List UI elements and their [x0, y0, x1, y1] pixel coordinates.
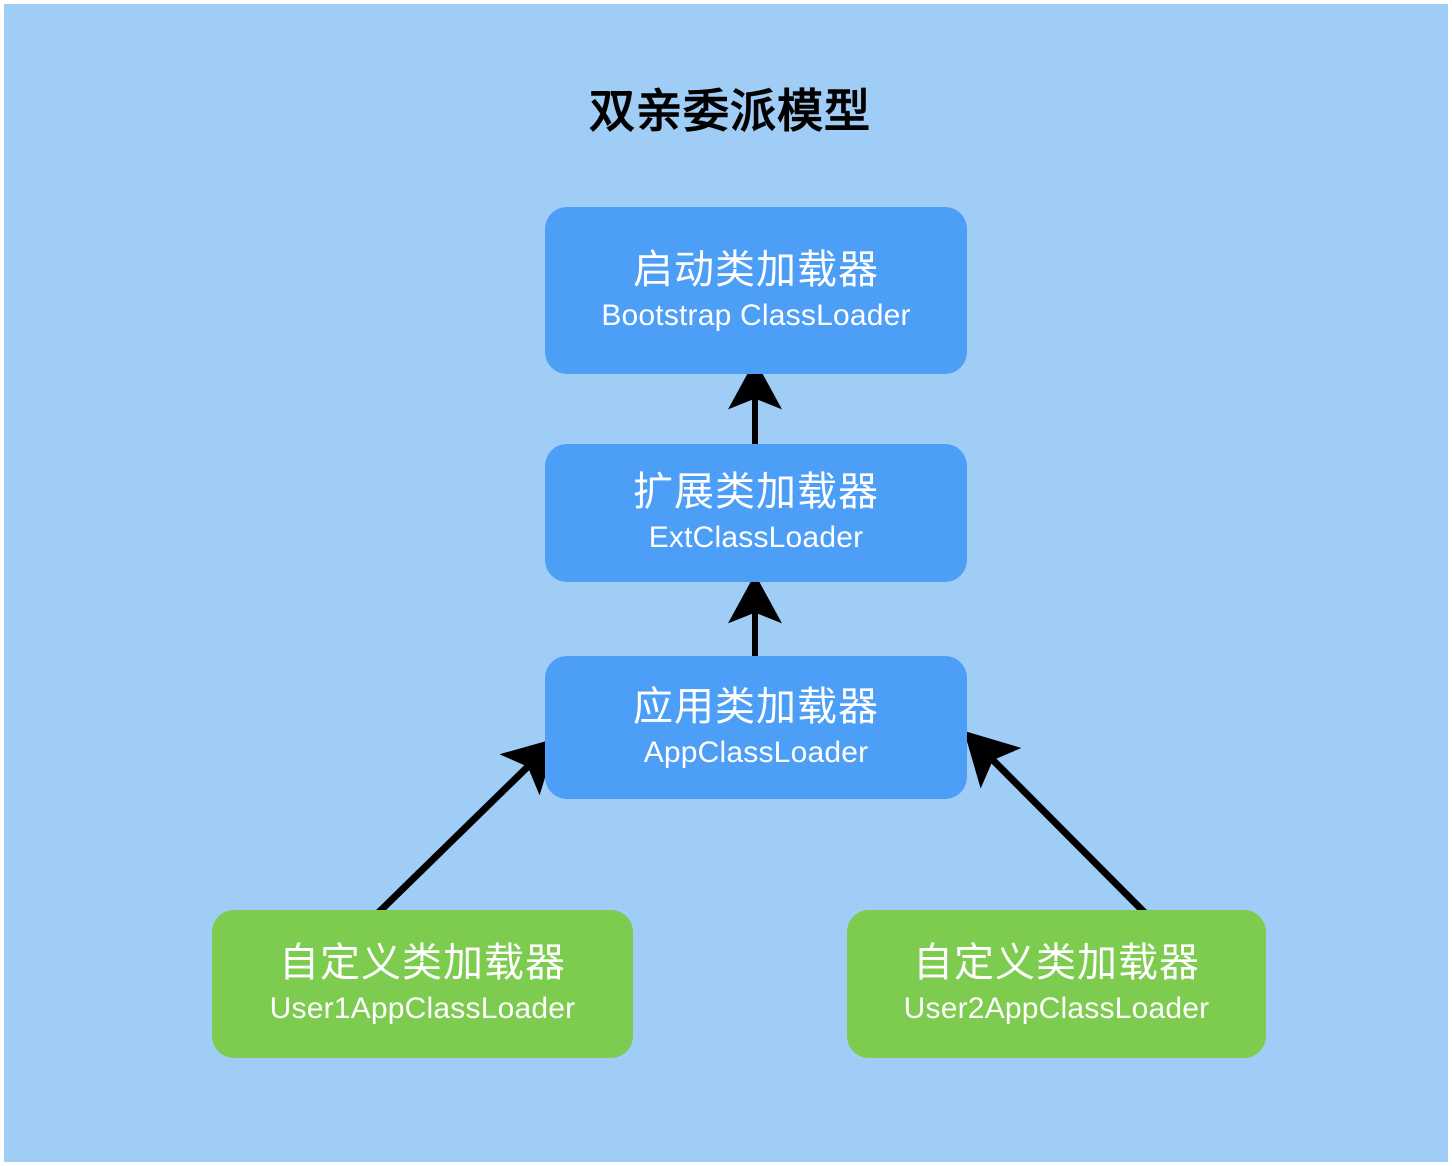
node-user2-label-en: User2AppClassLoader [904, 990, 1210, 1028]
page-title: 双亲委派模型 [4, 86, 1452, 137]
node-app-label-cn: 应用类加载器 [633, 684, 879, 730]
arrow-user1-to-app [376, 744, 551, 915]
node-user2-label-cn: 自定义类加载器 [913, 940, 1200, 986]
node-user1-label-en: User1AppClassLoader [270, 990, 576, 1028]
node-app-label-en: AppClassLoader [644, 734, 869, 772]
node-ext-classloader[interactable]: 扩展类加载器 ExtClassLoader [545, 444, 967, 582]
arrow-user2-to-app [970, 737, 1146, 914]
node-user1-classloader[interactable]: 自定义类加载器 User1AppClassLoader [212, 910, 633, 1058]
node-ext-label-cn: 扩展类加载器 [633, 469, 879, 515]
node-bootstrap-label-cn: 启动类加载器 [633, 247, 879, 293]
node-app-classloader[interactable]: 应用类加载器 AppClassLoader [545, 656, 967, 799]
diagram-canvas: 双亲委派模型 启动类加载器 Bootstrap ClassLoader 扩展类加… [0, 0, 1452, 1166]
node-bootstrap-label-en: Bootstrap ClassLoader [601, 297, 910, 335]
node-bootstrap-classloader[interactable]: 启动类加载器 Bootstrap ClassLoader [545, 207, 967, 374]
node-user2-classloader[interactable]: 自定义类加载器 User2AppClassLoader [847, 910, 1266, 1058]
node-ext-label-en: ExtClassLoader [649, 519, 864, 557]
node-user1-label-cn: 自定义类加载器 [279, 940, 566, 986]
